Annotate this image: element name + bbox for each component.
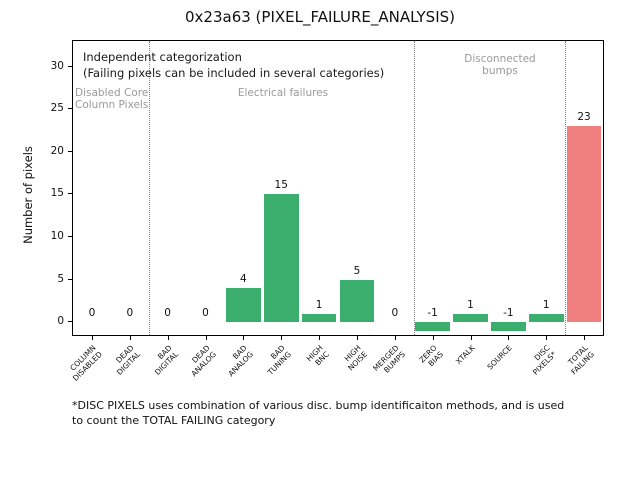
bar-value-label: 0 — [89, 307, 96, 319]
y-tick-label: 0 — [57, 315, 64, 327]
category-divider — [149, 41, 150, 335]
y-axis: Number of pixels 051015202530 — [0, 40, 72, 336]
bar-value-label: 0 — [126, 307, 133, 319]
footnote-text: *DISC PIXELS uses combination of various… — [72, 398, 602, 428]
x-tick-mark — [168, 336, 169, 340]
x-tick-mark — [508, 336, 509, 340]
bar-value-label: 23 — [577, 111, 590, 123]
bar-value-label: 4 — [240, 273, 247, 285]
bar[interactable] — [453, 314, 488, 323]
x-tick-mark — [92, 336, 93, 340]
bar[interactable] — [264, 194, 299, 322]
annotation-disabled-core-column-pixels: Disabled Core Column Pixels — [75, 87, 183, 111]
category-divider — [414, 41, 415, 335]
bar-value-label: -1 — [503, 307, 513, 319]
bar-value-label: 15 — [275, 179, 288, 191]
bar[interactable] — [567, 126, 602, 322]
bar-value-label: 5 — [354, 265, 361, 277]
y-tick-label: 5 — [57, 273, 64, 285]
x-tick-mark — [584, 336, 585, 340]
bar-value-label: 1 — [316, 299, 323, 311]
bar-value-label: 0 — [164, 307, 171, 319]
bar[interactable] — [226, 288, 261, 322]
plot-area: 0000415150-11-1123 Independent categoriz… — [72, 40, 604, 336]
x-tick-mark — [281, 336, 282, 340]
y-tick-label: 30 — [51, 60, 64, 72]
bar[interactable] — [415, 322, 450, 331]
x-tick-mark — [433, 336, 434, 340]
bar[interactable] — [529, 314, 564, 323]
bar-value-label: 0 — [202, 307, 209, 319]
x-tick-mark — [395, 336, 396, 340]
bar[interactable] — [302, 314, 337, 323]
y-tick-label: 10 — [51, 230, 64, 242]
y-tick-label: 25 — [51, 102, 64, 114]
bar-value-label: 1 — [467, 299, 474, 311]
annotation-disconnected-bumps: Disconnected bumps — [445, 53, 555, 77]
annotation-electrical-failures: Electrical failures — [193, 87, 373, 99]
x-tick-mark — [471, 336, 472, 340]
x-axis: COLUMN DISABLEDDEAD DIGITALBAD DIGITALDE… — [72, 336, 604, 406]
bar-value-label: -1 — [427, 307, 437, 319]
bar[interactable] — [491, 322, 526, 331]
y-tick-label: 15 — [51, 187, 64, 199]
bar-value-label: 1 — [543, 299, 550, 311]
y-axis-label: Number of pixels — [21, 75, 35, 315]
x-tick-mark — [130, 336, 131, 340]
y-tick-label: 20 — [51, 145, 64, 157]
plot-inner: 0000415150-11-1123 Independent categoriz… — [73, 41, 603, 335]
figure-canvas: 0x23a63 (PIXEL_FAILURE_ANALYSIS) Number … — [0, 0, 640, 480]
x-tick-mark — [546, 336, 547, 340]
x-tick-mark — [243, 336, 244, 340]
x-tick-mark — [357, 336, 358, 340]
x-tick-mark — [206, 336, 207, 340]
x-tick-mark — [319, 336, 320, 340]
bar-value-label: 0 — [391, 307, 398, 319]
bar[interactable] — [340, 280, 375, 323]
chart-title: 0x23a63 (PIXEL_FAILURE_ANALYSIS) — [0, 8, 640, 26]
